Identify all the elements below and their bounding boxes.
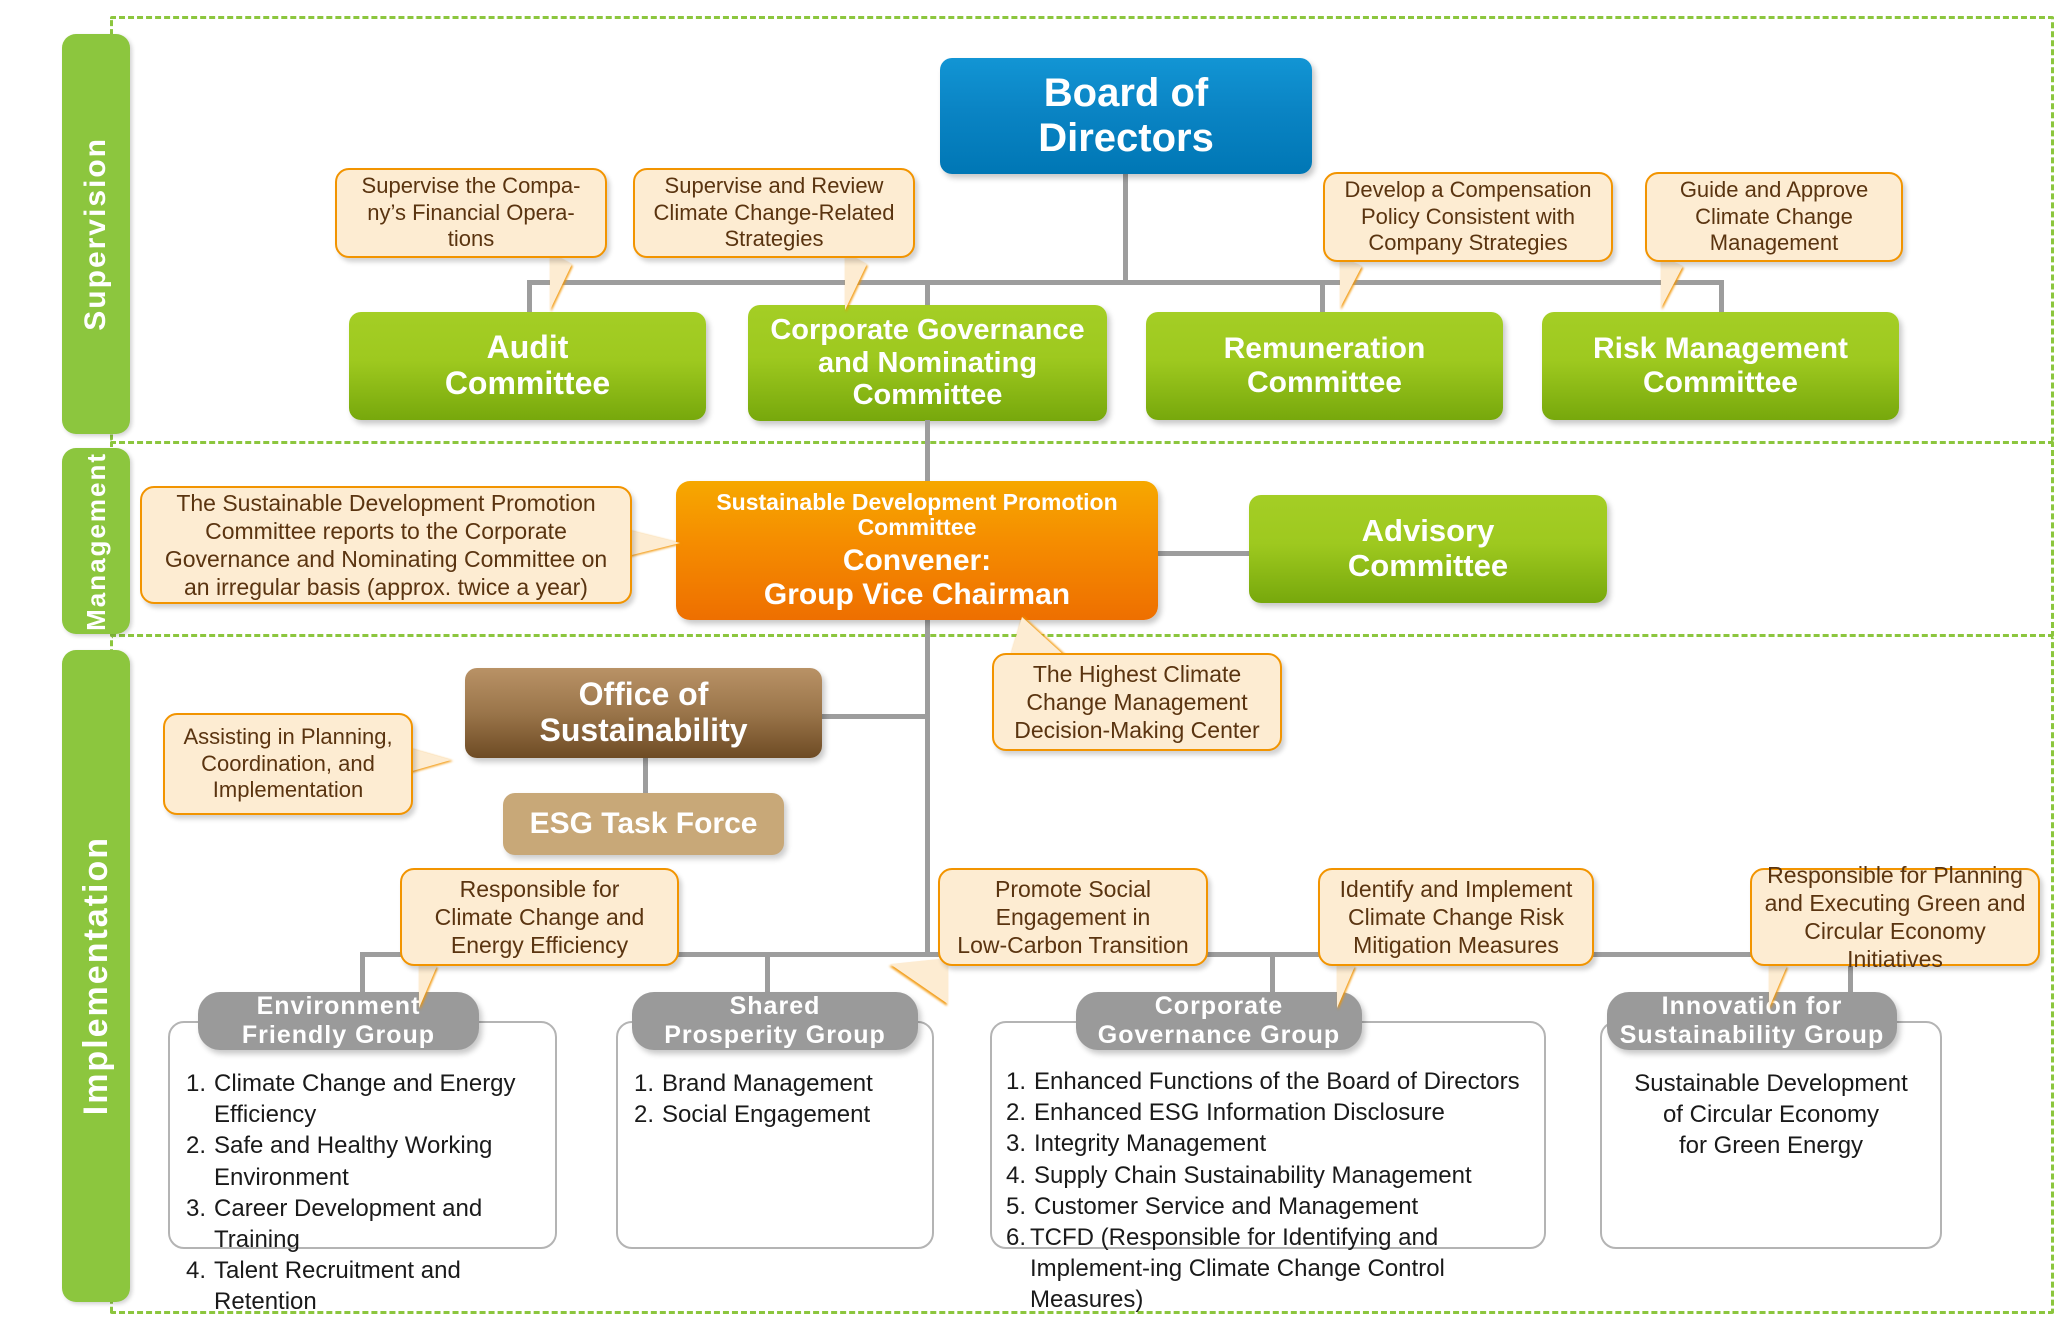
callout-office-tail <box>409 748 451 772</box>
callout-cgn-committee: Supervise and Review Climate Change-Rela… <box>633 168 915 258</box>
callout-risk-committee: Guide and Approve Climate Change Managem… <box>1645 172 1903 262</box>
callout-risk-tail <box>1661 256 1683 308</box>
node-corporate-governance-nominating-committee[interactable]: Corporate Governance and Nominating Comm… <box>748 305 1107 421</box>
list-item: 5.Customer Service and Management <box>1006 1191 1536 1222</box>
sdpc-subtitle: Convener: Group Vice Chairman <box>764 544 1070 611</box>
callout-shared-tail <box>890 958 948 1004</box>
callout-shared-prosperity-group: Promote Social Engagement in Low-Carbon … <box>938 868 1208 966</box>
list-item: 2.Social Engagement <box>634 1099 926 1130</box>
group-title-shared-prosperity[interactable]: Shared Prosperity Group <box>632 992 918 1050</box>
group-body-innovation-sustainability: Sustainable Development of Circular Econ… <box>1606 1068 1936 1162</box>
group-title-corporate-governance[interactable]: Corporate Governance Group <box>1076 992 1362 1050</box>
list-item: 4.Talent Recruitment and Retention <box>186 1255 548 1317</box>
node-audit-committee[interactable]: Audit Committee <box>349 312 706 420</box>
connector-cgn-to-sdpc <box>925 420 930 485</box>
node-board-of-directors[interactable]: Board of Directors <box>940 58 1312 174</box>
connector-remuneration-drop <box>1320 280 1325 313</box>
list-item: 1.Climate Change and Energy Efficiency <box>186 1068 548 1130</box>
node-advisory-committee[interactable]: Advisory Committee <box>1249 495 1607 603</box>
callout-audit-committee: Supervise the Compa- ny’s Financial Oper… <box>335 168 607 258</box>
list-item: 2.Safe and Healthy Working Environment <box>186 1130 548 1192</box>
connector-board-down <box>1123 172 1128 283</box>
callout-highest-decision-tail <box>1010 617 1066 657</box>
callout-office-of-sustainability: Assisting in Planning, Coordination, and… <box>163 713 413 815</box>
connector-office-to-trunk <box>821 714 927 719</box>
callout-sdpc-reporting: The Sustainable Development Promotion Co… <box>140 486 632 604</box>
section-label-implementation: Implementation <box>77 836 116 1115</box>
node-remuneration-committee[interactable]: Remuneration Committee <box>1146 312 1503 420</box>
callout-corporate-governance-group: Identify and Implement Climate Change Ri… <box>1318 868 1594 966</box>
group-list-environment-friendly: 1.Climate Change and Energy Efficiency 2… <box>186 1068 548 1318</box>
list-item: 1.Enhanced Functions of the Board of Dir… <box>1006 1066 1536 1097</box>
callout-audit-tail <box>550 252 572 310</box>
node-office-of-sustainability[interactable]: Office of Sustainability <box>465 668 822 758</box>
callout-highest-decision-center: The Highest Climate Change Management De… <box>992 653 1282 751</box>
list-item: 3.Integrity Management <box>1006 1128 1536 1159</box>
node-risk-management-committee[interactable]: Risk Management Committee <box>1542 312 1899 420</box>
list-item: 6.TCFD (Responsible for Identifying and … <box>1006 1222 1536 1316</box>
sdpc-title: Sustainable Development Promotion Commit… <box>716 490 1117 541</box>
node-sustainable-development-promotion-committee[interactable]: Sustainable Development Promotion Commit… <box>676 481 1158 620</box>
callout-sdpc-reporting-tail <box>628 530 680 556</box>
callout-remuneration-committee: Develop a Compensation Policy Consistent… <box>1323 172 1613 262</box>
callout-remuneration-tail <box>1340 256 1362 308</box>
section-label-supervision: Supervision <box>79 137 113 331</box>
connector-committee-bus <box>527 280 1724 285</box>
group-title-innovation-sustainability[interactable]: Innovation for Sustainability Group <box>1607 992 1897 1050</box>
section-tab-supervision: Supervision <box>62 34 130 434</box>
connector-sdpc-to-advisory <box>1157 551 1252 556</box>
group-list-corporate-governance: 1.Enhanced Functions of the Board of Dir… <box>1006 1066 1536 1316</box>
connector-sdpc-down <box>925 618 930 956</box>
group-card-shared-prosperity <box>616 1021 934 1249</box>
callout-env-tail <box>419 960 437 1008</box>
list-item: 3.Career Development and Training <box>186 1193 548 1255</box>
section-tab-implementation: Implementation <box>62 650 130 1302</box>
connector-risk-drop <box>1719 280 1724 313</box>
callout-cgn-tail <box>845 252 867 310</box>
list-item: 1.Brand Management <box>634 1068 926 1099</box>
connector-audit-drop <box>527 280 532 313</box>
list-item: 4.Supply Chain Sustainability Management <box>1006 1160 1536 1191</box>
callout-innovation-sustainability-group: Responsible for Planning and Executing G… <box>1750 868 2040 966</box>
org-chart-canvas: Supervision Management Implementation Bo… <box>0 0 2069 1328</box>
callout-environment-friendly-group: Responsible for Climate Change and Energ… <box>400 868 679 966</box>
node-esg-task-force[interactable]: ESG Task Force <box>503 793 784 855</box>
callout-corp-tail <box>1337 960 1355 1008</box>
group-list-shared-prosperity: 1.Brand Management 2.Social Engagement <box>634 1068 926 1130</box>
section-label-management: Management <box>81 452 112 631</box>
section-tab-management: Management <box>62 448 130 634</box>
list-item: 2.Enhanced ESG Information Disclosure <box>1006 1097 1536 1128</box>
